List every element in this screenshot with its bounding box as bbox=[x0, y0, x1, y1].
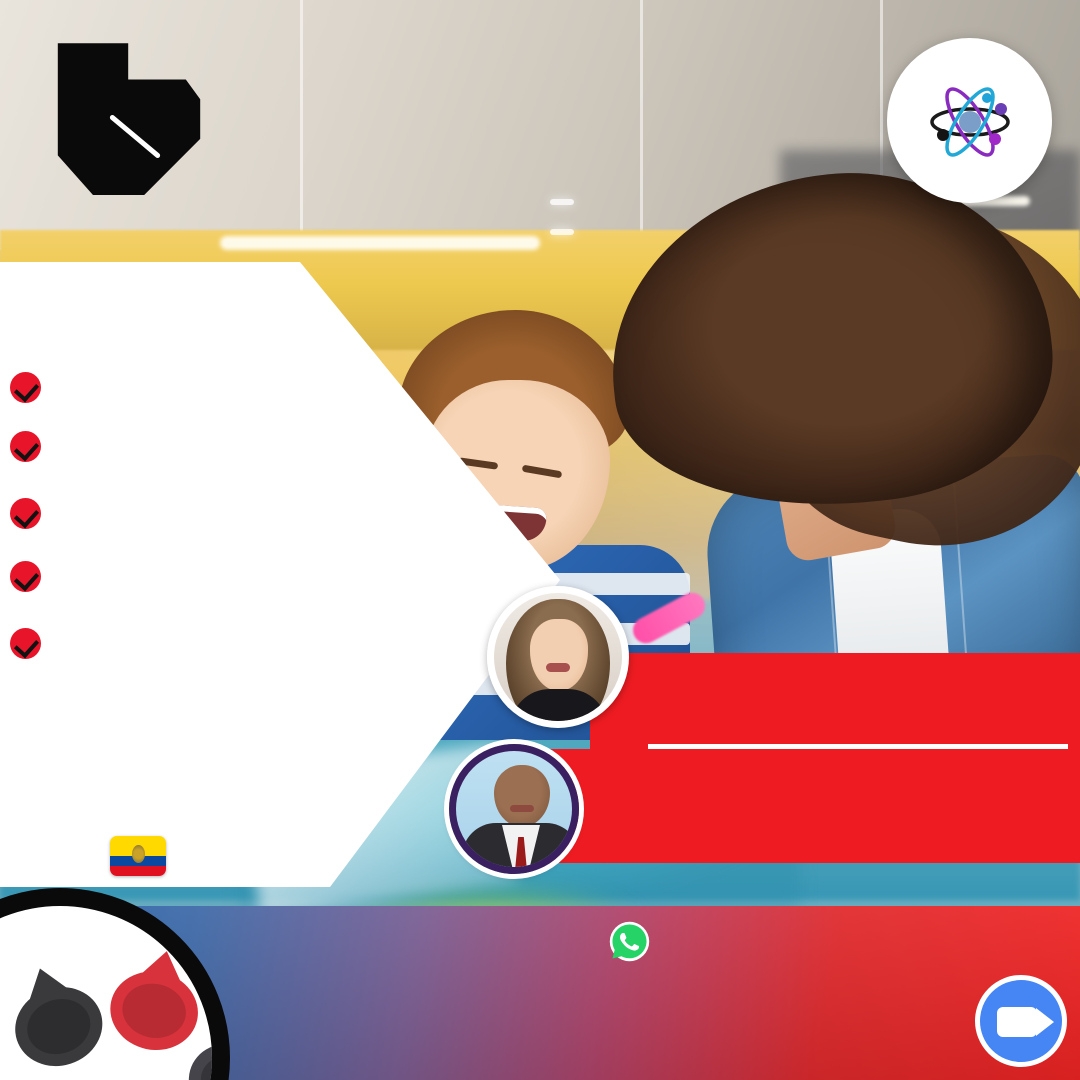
subtitle-line-2 bbox=[550, 229, 574, 235]
check-icon bbox=[10, 498, 41, 529]
speaker-1-band bbox=[590, 653, 1080, 749]
check-icon bbox=[10, 431, 41, 462]
ecuador-flag-icon bbox=[110, 836, 166, 876]
atom-icon bbox=[929, 86, 1011, 158]
topic-item bbox=[10, 370, 440, 403]
logo-shield-shape bbox=[45, 30, 205, 195]
topic-item bbox=[10, 559, 440, 592]
webinar-poster bbox=[0, 0, 1080, 1080]
check-icon bbox=[10, 372, 41, 403]
bio-venecu-logo bbox=[45, 30, 205, 195]
check-icon bbox=[10, 628, 41, 659]
topics-list bbox=[10, 370, 440, 685]
topic-item bbox=[10, 496, 440, 529]
page-subtitle bbox=[282, 184, 842, 243]
speaker-avatar-jesus bbox=[449, 744, 579, 874]
whatsapp-icon[interactable] bbox=[608, 920, 651, 963]
topic-item bbox=[10, 626, 440, 659]
biosalud-circle-logo bbox=[887, 38, 1052, 203]
topic-item bbox=[10, 429, 440, 462]
speaker-2-band bbox=[548, 749, 1080, 863]
zoom-icon[interactable] bbox=[975, 975, 1067, 1067]
check-icon bbox=[10, 561, 41, 592]
speaker-avatar-sol bbox=[487, 586, 629, 728]
subtitle-line-1 bbox=[550, 199, 574, 205]
